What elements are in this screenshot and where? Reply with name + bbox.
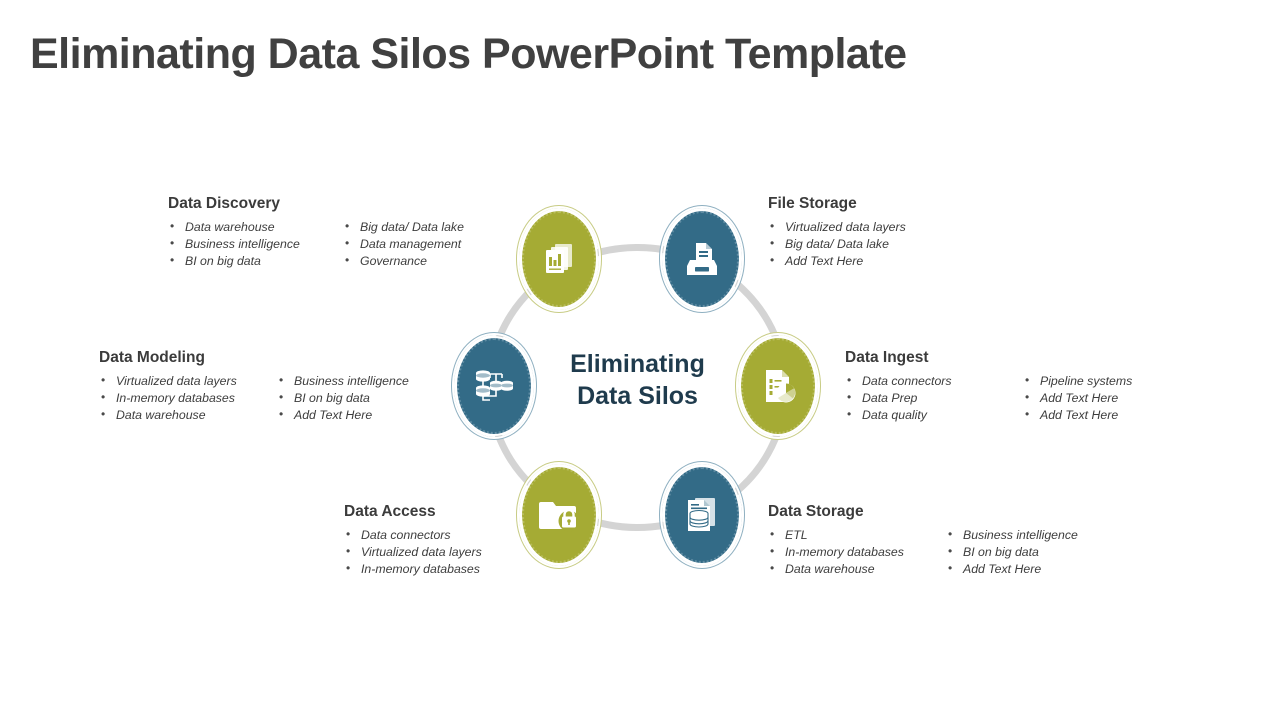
bullet-columns: Data warehouseBusiness intelligenceBI on… (168, 219, 464, 270)
center-label-line2: Data Silos (540, 380, 735, 412)
bullet-item: Add Text Here (277, 407, 409, 424)
bullet-item: Data management (343, 236, 464, 253)
bullet-columns: Virtualized data layersBig data/ Data la… (768, 219, 948, 270)
bullet-list-col-a: Data warehouseBusiness intelligenceBI on… (168, 219, 343, 270)
database-tree-icon (473, 366, 515, 406)
bullet-item: Data connectors (845, 373, 1023, 390)
block-data-access: Data Access Data connectorsVirtualized d… (344, 503, 524, 578)
bullet-item: Add Text Here (946, 561, 1078, 578)
center-label-line1: Eliminating (540, 348, 735, 380)
block-heading-file-storage: File Storage (768, 195, 948, 213)
bullet-list-col-b: Business intelligenceBI on big dataAdd T… (277, 373, 409, 424)
documents-chart-icon (539, 239, 579, 279)
center-label: Eliminating Data Silos (540, 348, 735, 412)
file-cabinet-icon (682, 239, 722, 279)
bullet-item: Data warehouse (168, 219, 343, 236)
node-data-storage[interactable] (665, 467, 739, 563)
bullet-columns: ETLIn-memory databasesData warehouse Bus… (768, 527, 1078, 578)
folder-lock-icon (538, 496, 580, 534)
bullet-columns: Virtualized data layersIn-memory databas… (99, 373, 409, 424)
bullet-item: Add Text Here (1023, 390, 1132, 407)
bullet-item: Business intelligence (168, 236, 343, 253)
bullet-item: In-memory databases (344, 561, 524, 578)
bullet-list-col-b: Big data/ Data lakeData managementGovern… (343, 219, 464, 270)
bullet-item: Business intelligence (277, 373, 409, 390)
bullet-item: Virtualized data layers (99, 373, 277, 390)
block-data-ingest: Data Ingest Data connectorsData PrepData… (845, 349, 1132, 424)
bullet-item: Add Text Here (768, 253, 948, 270)
bullet-list-col-a: ETLIn-memory databasesData warehouse (768, 527, 946, 578)
block-file-storage: File Storage Virtualized data layersBig … (768, 195, 948, 270)
block-data-discovery: Data Discovery Data warehouseBusiness in… (168, 195, 464, 270)
node-file-storage[interactable] (665, 211, 739, 307)
bullet-list-col-a: Data connectorsVirtualized data layersIn… (344, 527, 524, 578)
block-heading-data-access: Data Access (344, 503, 524, 521)
bullet-list-col-a: Virtualized data layersBig data/ Data la… (768, 219, 948, 270)
bullet-item: Governance (343, 253, 464, 270)
node-data-discovery[interactable] (522, 211, 596, 307)
bullet-item: BI on big data (168, 253, 343, 270)
bullet-item: Big data/ Data lake (768, 236, 948, 253)
block-heading-data-ingest: Data Ingest (845, 349, 1132, 367)
bullet-item: BI on big data (946, 544, 1078, 561)
bullet-list-col-b: Business intelligenceBI on big dataAdd T… (946, 527, 1078, 578)
block-heading-data-discovery: Data Discovery (168, 195, 464, 213)
document-pie-chart-icon (758, 366, 798, 406)
document-database-icon (682, 495, 722, 535)
node-data-access[interactable] (522, 467, 596, 563)
bullet-item: BI on big data (277, 390, 409, 407)
bullet-item: Add Text Here (1023, 407, 1132, 424)
bullet-item: Data Prep (845, 390, 1023, 407)
bullet-columns: Data connectorsData PrepData quality Pip… (845, 373, 1132, 424)
bullet-item: Pipeline systems (1023, 373, 1132, 390)
node-data-ingest[interactable] (741, 338, 815, 434)
bullet-item: Big data/ Data lake (343, 219, 464, 236)
bullet-item: Business intelligence (946, 527, 1078, 544)
bullet-columns: Data connectorsVirtualized data layersIn… (344, 527, 524, 578)
block-data-storage: Data Storage ETLIn-memory databasesData … (768, 503, 1078, 578)
bullet-item: Virtualized data layers (344, 544, 524, 561)
bullet-list-col-a: Data connectorsData PrepData quality (845, 373, 1023, 424)
bullet-item: Data warehouse (768, 561, 946, 578)
block-heading-data-modeling: Data Modeling (99, 349, 409, 367)
bullet-item: In-memory databases (768, 544, 946, 561)
bullet-item: Data warehouse (99, 407, 277, 424)
bullet-item: ETL (768, 527, 946, 544)
bullet-item: Virtualized data layers (768, 219, 948, 236)
node-data-modeling[interactable] (457, 338, 531, 434)
bullet-item: Data quality (845, 407, 1023, 424)
block-heading-data-storage: Data Storage (768, 503, 1078, 521)
bullet-list-col-b: Pipeline systemsAdd Text HereAdd Text He… (1023, 373, 1132, 424)
bullet-list-col-a: Virtualized data layersIn-memory databas… (99, 373, 277, 424)
bullet-item: Data connectors (344, 527, 524, 544)
bullet-item: In-memory databases (99, 390, 277, 407)
block-data-modeling: Data Modeling Virtualized data layersIn-… (99, 349, 409, 424)
